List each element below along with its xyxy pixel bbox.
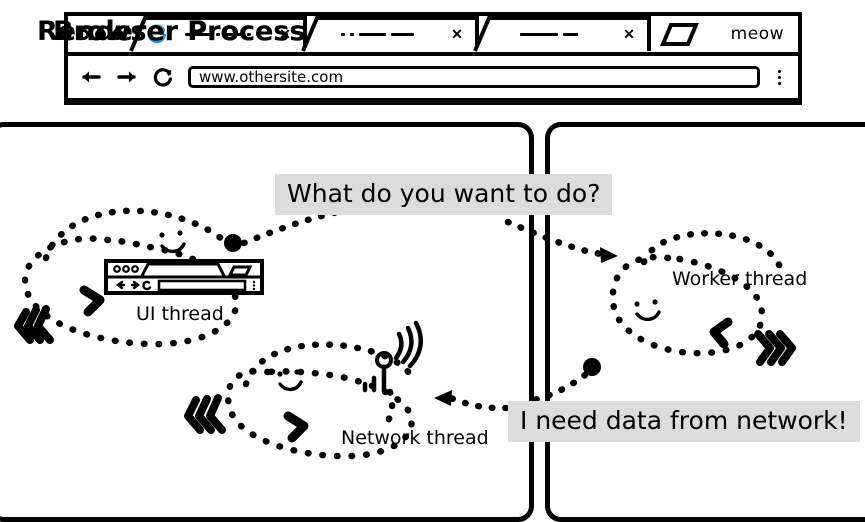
kebab-menu-icon[interactable] [772, 70, 786, 85]
reload-icon[interactable] [150, 65, 176, 89]
browser-brand-label: meow [731, 24, 784, 44]
back-arrow-icon[interactable] [78, 65, 104, 89]
tab-2-close-icon[interactable]: ✕ [449, 27, 465, 41]
tab-2-title [305, 33, 449, 36]
message-bubble-i-need-data-from-network: I need data from network! [508, 401, 860, 442]
tab-3-title [477, 33, 621, 36]
url-input[interactable]: www.othersite.com [188, 66, 760, 88]
thread-label-ui: UI thread [136, 303, 224, 325]
browser-tab-3[interactable]: ✕ [473, 16, 651, 52]
thread-label-worker: Worker thread [672, 268, 807, 290]
mini-browser-window-icon [104, 259, 264, 295]
forward-arrow-icon[interactable] [114, 65, 140, 89]
message-bubble-what-do-you-want-to-do: What do you want to do? [275, 174, 612, 215]
new-tab-icon[interactable] [655, 21, 699, 47]
thread-label-network: Network thread [341, 427, 489, 449]
browser-toolbar: www.othersite.com [68, 56, 798, 101]
tab-3-close-icon[interactable]: ✕ [621, 27, 637, 41]
browser-tab-2[interactable]: ✕ [301, 16, 479, 52]
panel-renderer-process-title: Renderer Process [37, 16, 305, 47]
diagram-canvas: ✕ ✕ [0, 0, 865, 504]
